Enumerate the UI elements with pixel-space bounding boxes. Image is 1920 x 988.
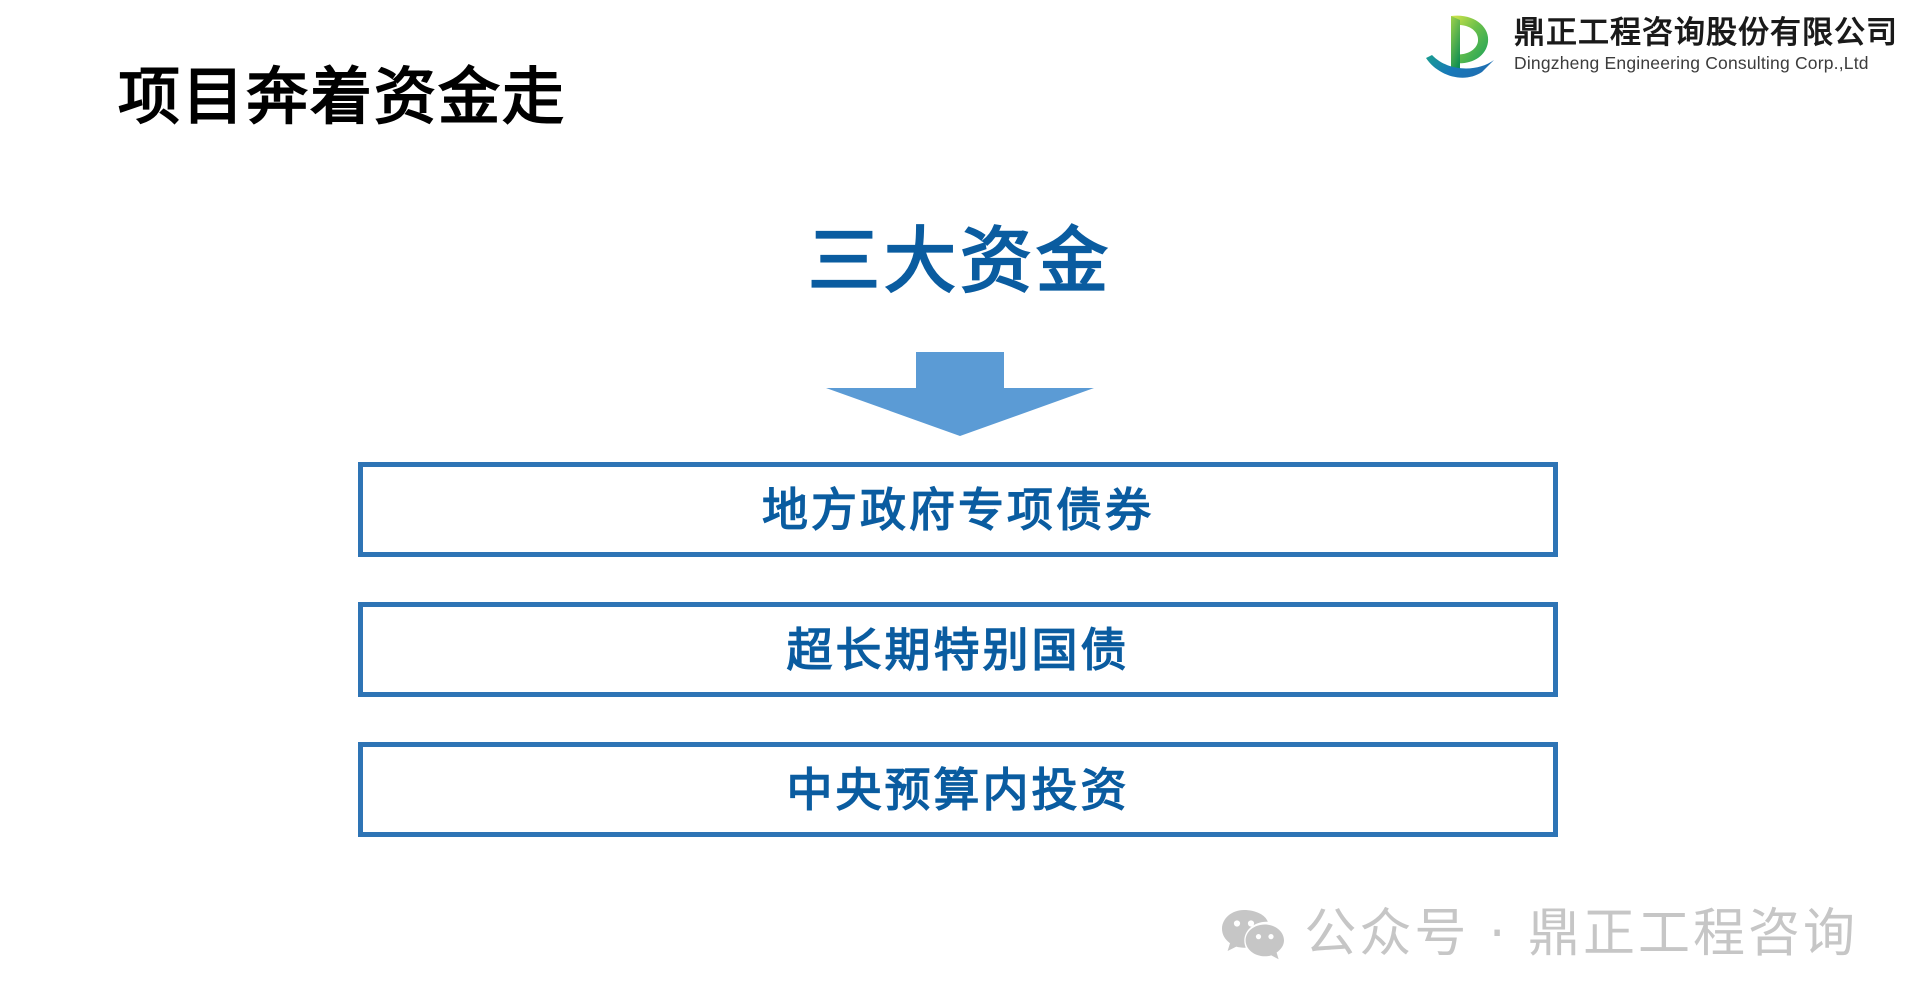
company-name-en: Dingzheng Engineering Consulting Corp.,L… [1514, 55, 1898, 73]
arrow-down-icon [826, 352, 1094, 436]
fund-box-local-government-special-bonds[interactable]: 地方政府专项债券 [358, 462, 1558, 557]
fund-box-ultra-long-special-treasury-bonds[interactable]: 超长期特别国债 [358, 602, 1558, 697]
watermark-text: 公众号 · 鼎正工程咨询 [1304, 908, 1858, 960]
company-logo: 鼎正工程咨询股份有限公司 Dingzheng Engineering Consu… [1424, 10, 1898, 80]
fund-box-label: 超长期特别国债 [787, 627, 1130, 673]
dingzheng-d-logo-icon [1424, 10, 1500, 80]
wechat-icon [1222, 908, 1284, 960]
fund-box-central-budget-investment[interactable]: 中央预算内投资 [358, 742, 1558, 837]
watermark: 公众号 · 鼎正工程咨询 [1222, 908, 1858, 960]
section-heading: 三大资金 [0, 225, 1920, 297]
fund-box-list: 地方政府专项债券 超长期特别国债 中央预算内投资 [358, 462, 1558, 837]
logo-text-block: 鼎正工程咨询股份有限公司 Dingzheng Engineering Consu… [1514, 18, 1898, 73]
section-heading-label: 三大资金 [808, 225, 1112, 297]
company-name-cn: 鼎正工程咨询股份有限公司 [1514, 18, 1898, 49]
fund-box-label: 地方政府专项债券 [762, 487, 1154, 533]
fund-box-label: 中央预算内投资 [787, 767, 1130, 813]
arrow-down-container [0, 352, 1920, 436]
page-title: 项目奔着资金走 [118, 62, 566, 131]
